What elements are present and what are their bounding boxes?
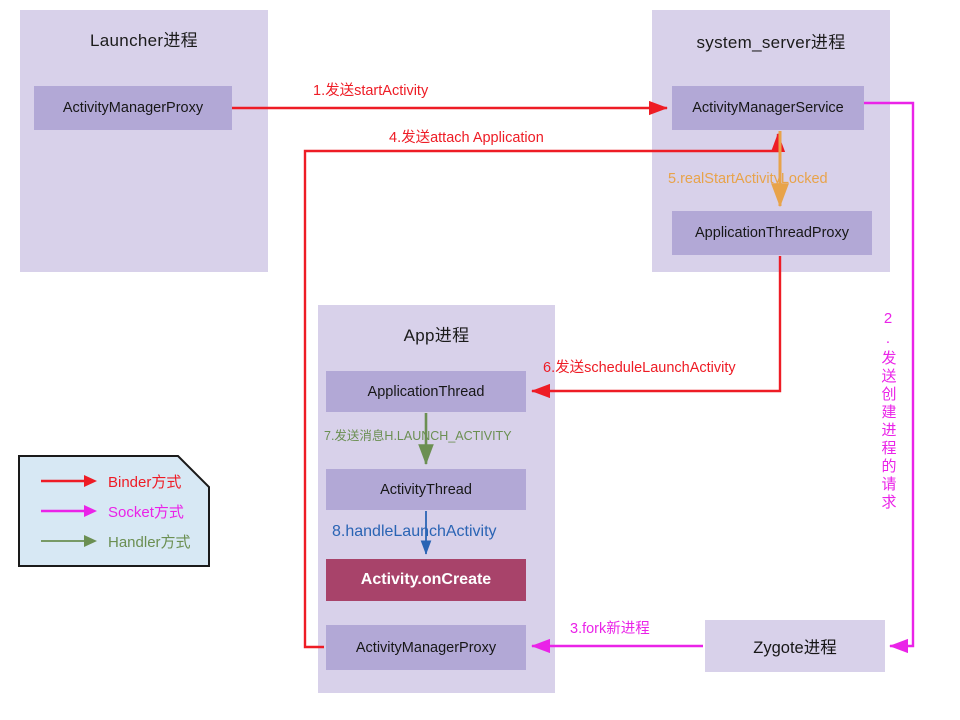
- legend-arrow-handler: [40, 534, 98, 548]
- step-label-5: 5.realStartActivityLocked: [668, 172, 828, 188]
- step-label-7: 7.发送消息H.LAUNCH_ACTIVITY: [324, 430, 512, 444]
- diagram-canvas: Launcher进程 system_server进程 App进程 Activit…: [0, 0, 960, 720]
- process-box-launcher: Launcher进程: [20, 10, 268, 272]
- node-label: ApplicationThreadProxy: [695, 225, 849, 241]
- node-label: ApplicationThread: [368, 384, 485, 400]
- legend-arrow-socket: [40, 504, 98, 518]
- step-label-3: 3.fork新进程: [570, 622, 650, 638]
- process-title-app: App进程: [318, 321, 555, 346]
- node-activity-manager-service[interactable]: ActivityManagerService: [672, 86, 864, 130]
- node-label: ActivityManagerProxy: [63, 100, 203, 116]
- node-activity-manager-proxy-launcher[interactable]: ActivityManagerProxy: [34, 86, 232, 130]
- step-label-2: 2.发送创建进程的请求: [879, 310, 896, 512]
- node-label: ActivityManagerService: [692, 100, 844, 116]
- process-title-system-server: system_server进程: [652, 28, 890, 53]
- node-application-thread[interactable]: ApplicationThread: [326, 371, 526, 412]
- legend-label-socket: Socket方式: [108, 501, 184, 522]
- node-label: ActivityThread: [380, 482, 472, 498]
- step-label-1: 1.发送startActivity: [313, 84, 428, 100]
- node-activity-thread[interactable]: ActivityThread: [326, 469, 526, 510]
- node-label: Zygote进程: [753, 634, 836, 658]
- legend-label-handler: Handler方式: [108, 531, 191, 552]
- node-label: ActivityManagerProxy: [356, 640, 496, 656]
- node-activity-oncreate[interactable]: Activity.onCreate: [326, 559, 526, 601]
- step-label-4: 4.发送attach Application: [389, 131, 544, 147]
- node-label: Activity.onCreate: [361, 571, 491, 589]
- legend-arrow-binder: [40, 474, 98, 488]
- legend-box: Binder方式 Socket方式 Handler方式: [18, 455, 210, 567]
- legend-label-binder: Binder方式: [108, 471, 181, 492]
- process-title-launcher: Launcher进程: [20, 26, 268, 51]
- node-zygote-process[interactable]: Zygote进程: [705, 620, 885, 672]
- node-application-thread-proxy[interactable]: ApplicationThreadProxy: [672, 211, 872, 255]
- step-label-8: 8.handleLaunchActivity: [332, 523, 497, 541]
- node-activity-manager-proxy-app[interactable]: ActivityManagerProxy: [326, 625, 526, 670]
- legend-item-binder: Binder方式: [40, 471, 181, 491]
- legend-item-socket: Socket方式: [40, 501, 184, 521]
- step-label-6: 6.发送scheduleLaunchActivity: [543, 361, 736, 377]
- legend-item-handler: Handler方式: [40, 531, 191, 551]
